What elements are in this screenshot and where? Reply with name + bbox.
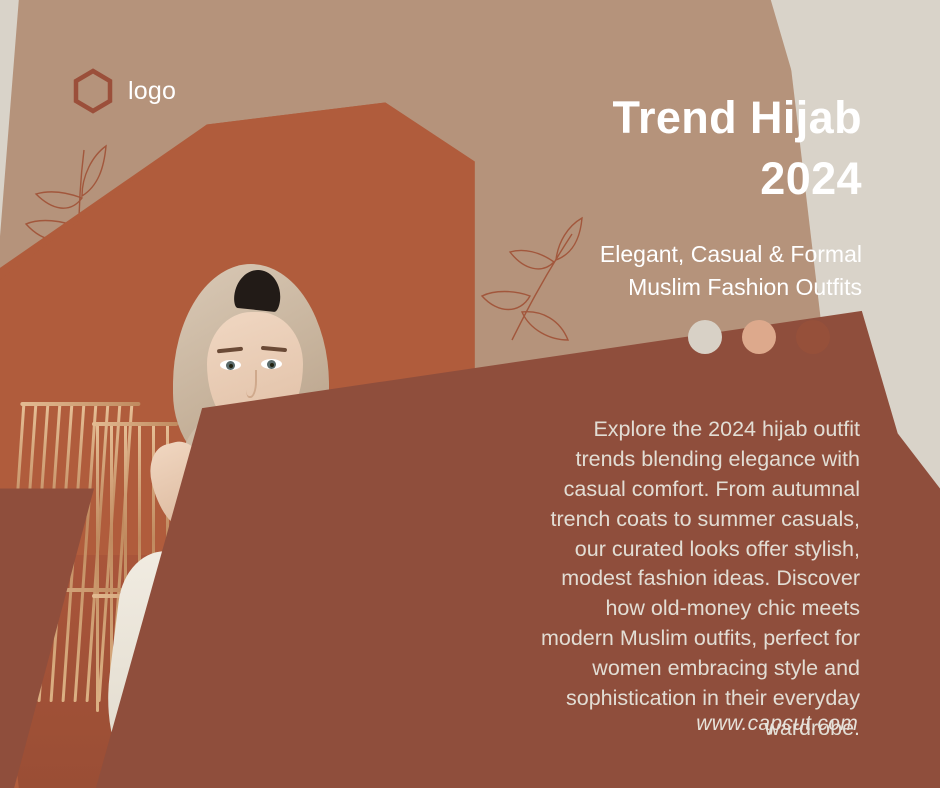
color-swatch-group bbox=[688, 320, 830, 354]
title-line-1: Trend Hijab bbox=[392, 88, 862, 149]
logo[interactable]: logo bbox=[72, 68, 176, 114]
subtitle: Elegant, Casual & Formal Muslim Fashion … bbox=[432, 238, 862, 303]
hexagon-icon bbox=[72, 68, 114, 114]
poster-canvas: logo Trend Hijab 2024 Elegant, Casual & … bbox=[0, 0, 940, 788]
logo-text: logo bbox=[128, 77, 176, 106]
page-title: Trend Hijab 2024 bbox=[392, 88, 862, 210]
swatch-rust[interactable] bbox=[796, 320, 830, 354]
swatch-peach[interactable] bbox=[742, 320, 776, 354]
subtitle-line-2: Muslim Fashion Outfits bbox=[432, 271, 862, 304]
body-paragraph: Explore the 2024 hijab outfit trends ble… bbox=[530, 415, 860, 744]
website-link[interactable]: www.capcut.com bbox=[696, 712, 858, 736]
subtitle-line-1: Elegant, Casual & Formal bbox=[432, 238, 862, 271]
swatch-cream[interactable] bbox=[688, 320, 722, 354]
title-line-2: 2024 bbox=[392, 149, 862, 210]
